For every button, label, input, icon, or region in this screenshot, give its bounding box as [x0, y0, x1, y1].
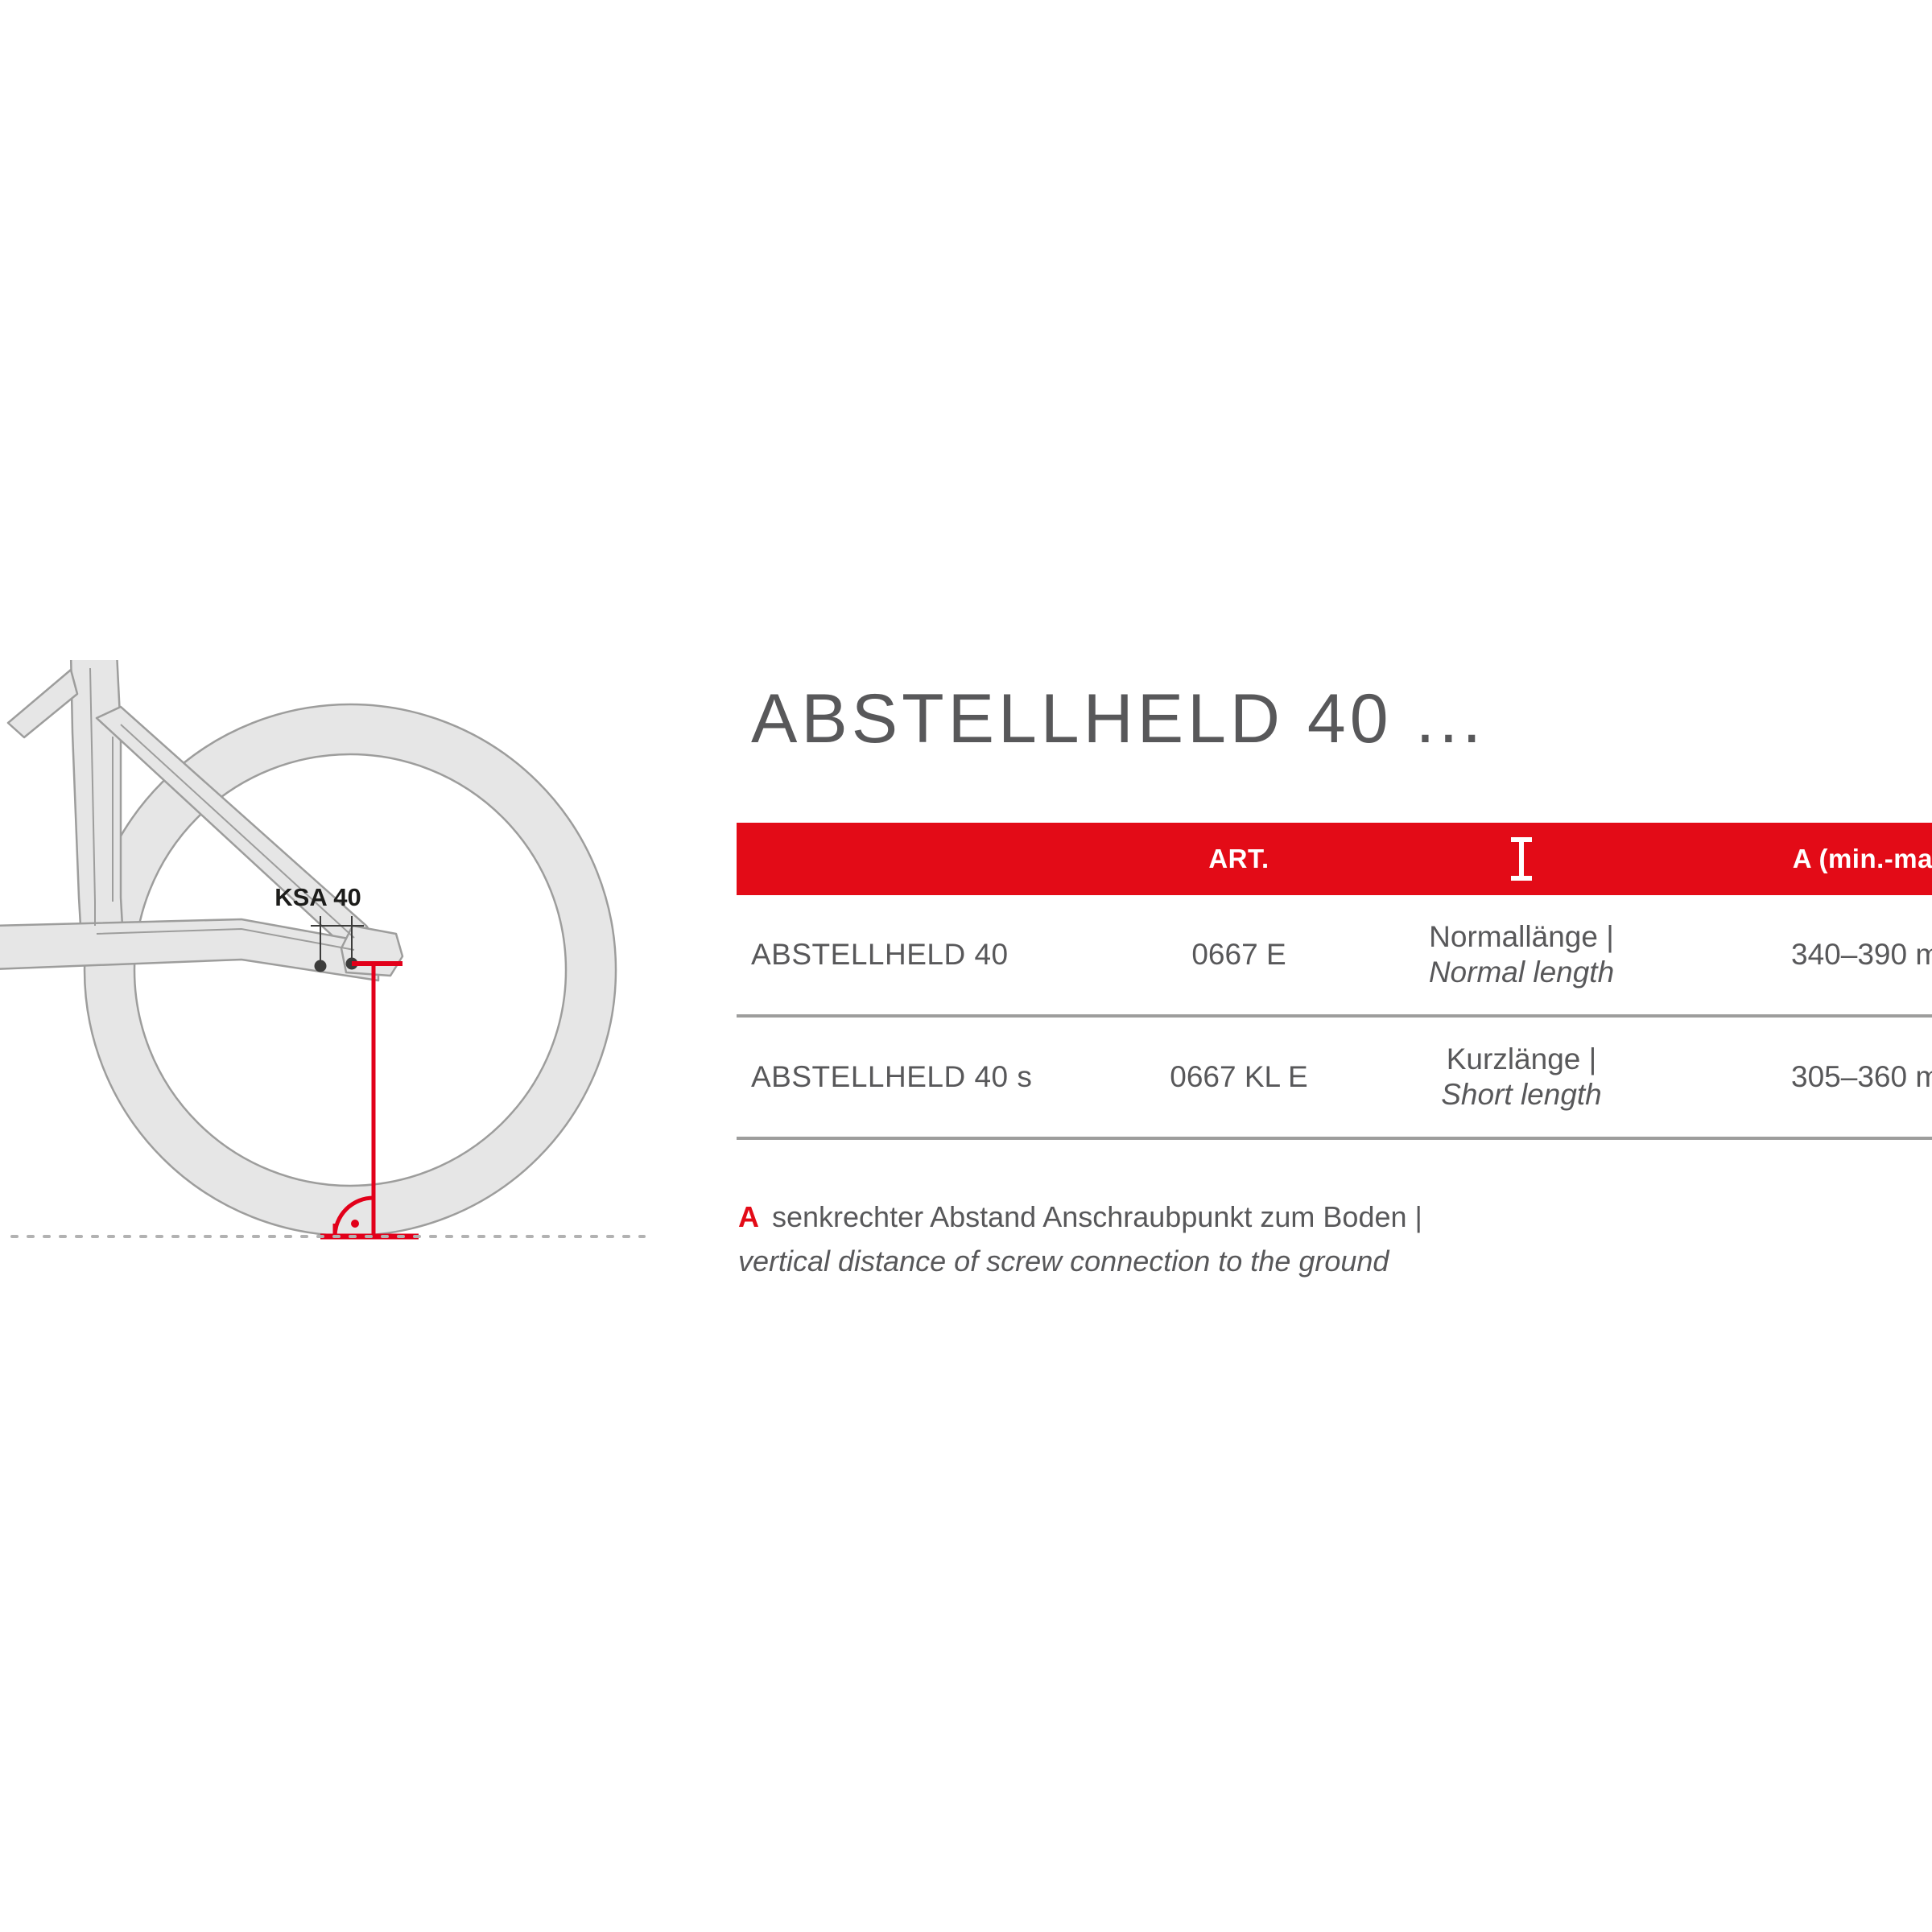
ksa-label: KSA 40: [275, 883, 361, 911]
length-measure-icon: [1511, 837, 1532, 881]
length-type-en: Normal length: [1389, 955, 1654, 990]
column-header-length: [1374, 823, 1669, 895]
bicycle-diagram: KSA 40: [0, 660, 724, 1304]
cell-product-name: ABSTELLHELD 40: [737, 895, 1104, 1016]
cell-product-name: ABSTELLHELD 40 s: [737, 1016, 1104, 1138]
footnote-marker: A: [738, 1200, 759, 1233]
cell-article-number: 0667 E: [1104, 895, 1374, 1016]
length-type-en: Short length: [1389, 1077, 1654, 1113]
table-body: ABSTELLHELD 40 0667 E Normallänge | Norm…: [737, 895, 1932, 1138]
column-header-article: ART.: [1104, 823, 1374, 895]
length-type-de: Kurzlänge |: [1389, 1042, 1654, 1077]
frame-seat-tube: [71, 660, 122, 926]
cell-length-type: Kurzlänge | Short length: [1374, 1016, 1669, 1138]
length-type-de: Normallänge |: [1389, 919, 1654, 955]
table-row: ABSTELLHELD 40 0667 E Normallänge | Norm…: [737, 895, 1932, 1016]
page-title: ABSTELLHELD 40 ...: [751, 660, 1880, 753]
specification-table: ART. A (min.-max.) ABSTELLHELD 40 0667 E…: [737, 823, 1932, 1140]
footnote-text-de: senkrechter Abstand Anschraubpunkt zum B…: [772, 1200, 1422, 1233]
column-header-range: A (min.-max.): [1669, 823, 1932, 895]
table-header-row: ART. A (min.-max.): [737, 823, 1932, 895]
frame-top-tube: [8, 670, 77, 737]
cell-range: 305–360 mm: [1669, 1016, 1932, 1138]
cell-range: 340–390 mm: [1669, 895, 1932, 1016]
footnote: Asenkrechter Abstand Anschraubpunkt zum …: [738, 1196, 1880, 1282]
footnote-text-en: vertical distance of screw connection to…: [738, 1241, 1880, 1282]
table-header: ART. A (min.-max.): [737, 823, 1932, 895]
right-angle-symbol-dot: [351, 1220, 359, 1228]
cell-article-number: 0667 KL E: [1104, 1016, 1374, 1138]
table-row: ABSTELLHELD 40 s 0667 KL E Kurzlänge | S…: [737, 1016, 1932, 1138]
diagram-canvas: KSA 40: [0, 660, 724, 1304]
content-panel: ABSTELLHELD 40 ... ART. A (min.-max.) AB…: [737, 660, 1880, 1282]
column-header-name: [737, 823, 1104, 895]
cell-length-type: Normallänge | Normal length: [1374, 895, 1669, 1016]
